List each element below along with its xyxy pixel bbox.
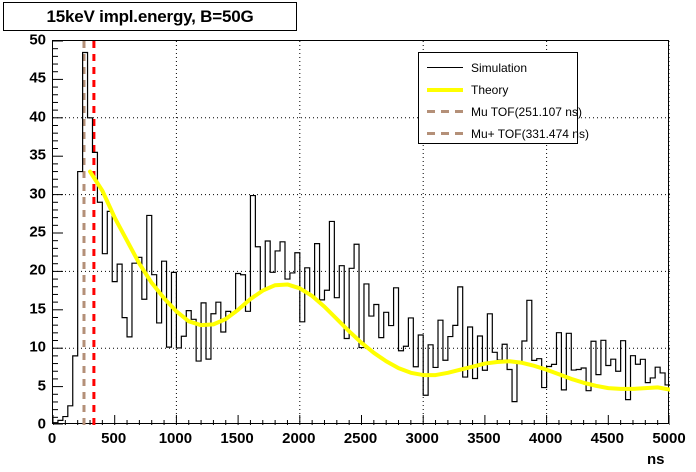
- dashed-line-icon: [427, 128, 463, 140]
- y-axis-tick-label: 45: [4, 70, 46, 87]
- y-axis-tick-label: 30: [4, 185, 46, 202]
- y-axis-tick-label: 10: [4, 339, 46, 356]
- x-axis-tick-label: 3000: [387, 430, 457, 447]
- legend-item-simulation: Simulation: [419, 57, 577, 79]
- dashed-line-icon: [427, 106, 463, 118]
- x-axis-tick-label: 4500: [572, 430, 642, 447]
- thick-line-icon: [427, 84, 463, 96]
- legend-item-theory: Theory: [419, 79, 577, 101]
- y-axis-tick-label: 25: [4, 224, 46, 241]
- x-axis-tick-label: 1000: [140, 430, 210, 447]
- x-axis-tick-label: 5000: [634, 430, 696, 447]
- y-axis-tick-label: 50: [4, 32, 46, 49]
- legend-label: Mu+ TOF(331.474 ns): [471, 127, 589, 141]
- x-axis-tick-label: 1500: [202, 430, 272, 447]
- legend-label: Mu TOF(251.107 ns): [471, 105, 582, 119]
- y-axis-tick-label: 20: [4, 262, 46, 279]
- chart-title-box: 15keV impl.energy, B=50G: [3, 2, 297, 31]
- x-axis-tick-label: 3500: [449, 430, 519, 447]
- x-axis-tick-label: 4000: [511, 430, 581, 447]
- x-axis-tick-label: 2000: [264, 430, 334, 447]
- legend-label: Theory: [471, 83, 508, 97]
- y-axis-tick-label: 15: [4, 300, 46, 317]
- legend-item-mu-plus-tof: Mu+ TOF(331.474 ns): [419, 123, 577, 145]
- y-axis-tick-label: 35: [4, 147, 46, 164]
- x-axis-tick-label: 500: [79, 430, 149, 447]
- x-axis-unit-label: ns: [647, 451, 665, 468]
- chart-canvas: 15keV impl.energy, B=50G 051015202530354…: [0, 0, 696, 472]
- y-axis-tick-label: 40: [4, 108, 46, 125]
- page-title: 15keV impl.energy, B=50G: [46, 7, 253, 27]
- legend-item-mu-tof: Mu TOF(251.107 ns): [419, 101, 577, 123]
- y-axis-tick-label: 5: [4, 377, 46, 394]
- legend-label: Simulation: [471, 61, 527, 75]
- legend: Simulation Theory Mu TOF(251.107 ns) Mu+…: [418, 52, 578, 144]
- x-axis-tick-label: 2500: [326, 430, 396, 447]
- solid-line-icon: [427, 62, 463, 74]
- x-axis-tick-label: 0: [17, 430, 87, 447]
